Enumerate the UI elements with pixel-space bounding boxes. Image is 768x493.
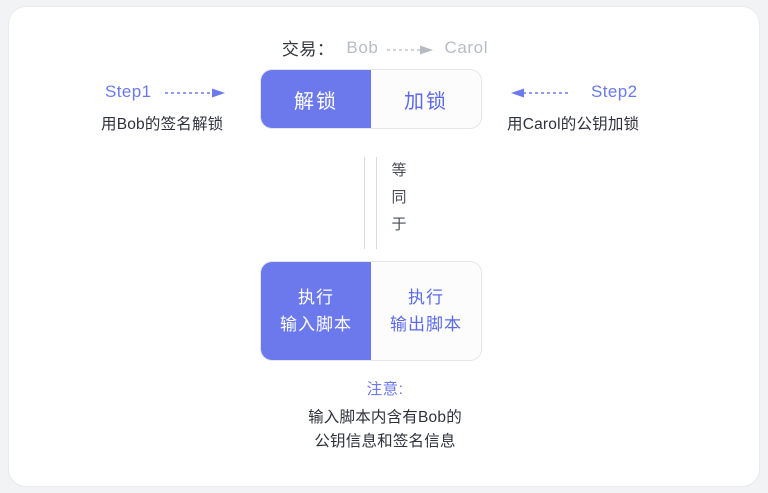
step-1-name: Step1 (105, 82, 151, 102)
equivalence-char-2: 同 (388, 184, 410, 211)
equivalence-connector: 等 同 于 (360, 157, 440, 249)
dotted-arrow-right-icon (387, 43, 435, 55)
transaction-header: 交易： Bob Carol (9, 35, 761, 60)
step-2-header: Step2 (507, 81, 697, 103)
output-script-line-1: 执行 (408, 284, 444, 311)
note-block: 注意: 输入脚本内含有Bob的 公钥信息和签名信息 (9, 377, 761, 454)
script-execution-box[interactable]: 执行 输入脚本 执行 输出脚本 (260, 261, 482, 361)
transaction-label: 交易： (282, 35, 335, 60)
step-2-name: Step2 (591, 82, 637, 102)
lock-pill[interactable]: 解锁 加锁 (260, 69, 482, 129)
output-script-segment[interactable]: 执行 输出脚本 (371, 262, 481, 360)
note-line-2: 公钥信息和签名信息 (9, 430, 761, 454)
step-1-header: Step1 (77, 81, 267, 103)
lock-segment[interactable]: 加锁 (371, 70, 481, 128)
output-script-line-2: 输出脚本 (390, 311, 462, 338)
sender-name: Bob (346, 38, 378, 58)
unlock-segment[interactable]: 解锁 (261, 70, 371, 128)
equivalence-char-3: 于 (388, 211, 410, 238)
step-2-description: 用Carol的公钥加锁 (507, 112, 697, 134)
note-body: 输入脚本内含有Bob的 公钥信息和签名信息 (9, 406, 761, 454)
receiver-name: Carol (444, 38, 488, 58)
dotted-arrow-right-icon (165, 86, 227, 98)
equivalence-label: 等 同 于 (388, 157, 410, 238)
step-1-block: Step1 用Bob的签名解锁 (77, 81, 267, 134)
step-1-description: 用Bob的签名解锁 (77, 112, 267, 134)
note-line-1: 输入脚本内含有Bob的 (9, 406, 761, 430)
equivalence-char-1: 等 (388, 157, 410, 184)
dotted-arrow-left-icon (509, 86, 571, 98)
step-2-block: Step2 用Carol的公钥加锁 (507, 81, 697, 134)
connector-line-left (364, 157, 365, 249)
diagram-card: 交易： Bob Carol Step1 用Bob的签名解锁 (8, 6, 760, 487)
input-script-segment[interactable]: 执行 输入脚本 (261, 262, 371, 360)
connector-line-right (376, 157, 377, 249)
note-title: 注意: (9, 377, 761, 399)
input-script-line-1: 执行 (298, 284, 334, 311)
input-script-line-2: 输入脚本 (280, 311, 352, 338)
